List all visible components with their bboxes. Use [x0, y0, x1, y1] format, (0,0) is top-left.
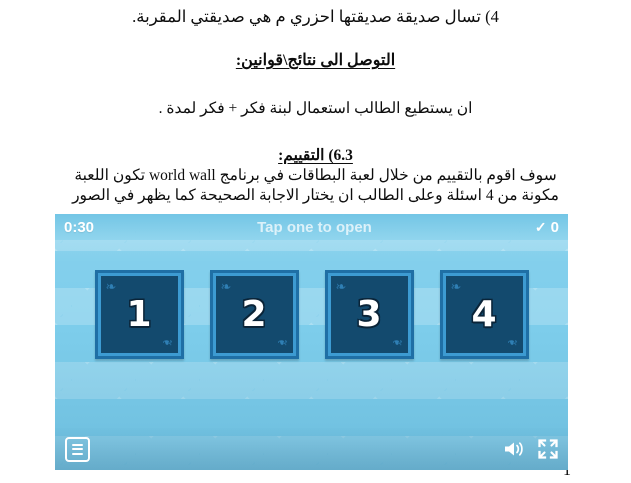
timer-display: 0:30 — [64, 219, 94, 236]
prompt-label: Tap one to open — [94, 219, 535, 236]
game-card-number: 3 — [356, 297, 381, 333]
game-widget[interactable]: 0:30 Tap one to open ✓ 0 ❧ 1 ❧ ❧ 2 ❧ ❧ 3 — [55, 214, 568, 470]
heading-assessment: 6.3) التقييم: — [0, 145, 631, 166]
swirl-ornament-icon: ❧ — [277, 336, 288, 349]
game-card-face: ❧ 2 ❧ — [216, 276, 293, 353]
heading-outcomes: التوصل الى نتائج\قوانين: — [0, 50, 631, 72]
hamburger-line — [72, 448, 83, 450]
swirl-ornament-icon: ❧ — [336, 280, 347, 293]
swirl-ornament-icon: ❧ — [507, 336, 518, 349]
game-card[interactable]: ❧ 3 ❧ — [325, 270, 414, 359]
heading-outcomes-text: التوصل الى نتائج\قوانين: — [236, 52, 395, 69]
swirl-ornament-icon: ❧ — [451, 280, 462, 293]
swirl-ornament-icon: ❧ — [106, 280, 117, 293]
game-card-number: 2 — [241, 297, 266, 333]
hamburger-menu-icon[interactable] — [65, 437, 90, 462]
game-card[interactable]: ❧ 1 ❧ — [95, 270, 184, 359]
game-top-bar: 0:30 Tap one to open ✓ 0 — [55, 214, 568, 240]
score-value: 0 — [551, 219, 559, 236]
score-display: ✓ 0 — [535, 219, 559, 236]
game-card-face: ❧ 3 ❧ — [331, 276, 408, 353]
assessment-paragraph-line-2: مكونة من 4 اسئلة وعلى الطالب ان يختار ال… — [0, 185, 631, 206]
question-line: 4) تسال صديقة صديقتها احزري م هي صديقتي … — [60, 6, 571, 28]
hamburger-line — [72, 453, 83, 455]
game-card-face: ❧ 4 ❧ — [446, 276, 523, 353]
outcomes-paragraph: ان يستطيع الطالب استعمال لبنة فكر + فكر … — [0, 98, 631, 120]
game-card[interactable]: ❧ 4 ❧ — [440, 270, 529, 359]
hamburger-line — [72, 444, 83, 446]
swirl-ornament-icon: ❧ — [392, 336, 403, 349]
game-card-number: 4 — [471, 297, 496, 333]
game-bottom-bar — [55, 428, 568, 470]
volume-icon[interactable] — [503, 440, 525, 458]
assessment-text-after: تكون اللعبة — [74, 167, 145, 184]
check-icon: ✓ — [535, 220, 547, 234]
assessment-paragraph-line-1: سوف اقوم بالتقييم من خلال لعبة البطاقات … — [0, 165, 631, 186]
swirl-ornament-icon: ❧ — [162, 336, 173, 349]
cards-row: ❧ 1 ❧ ❧ 2 ❧ ❧ 3 ❧ ❧ 4 ❧ — [55, 270, 568, 359]
assessment-text-before: سوف اقوم بالتقييم من خلال لعبة البطاقات … — [220, 167, 557, 184]
swirl-ornament-icon: ❧ — [221, 280, 232, 293]
heading-assessment-text: 6.3) التقييم: — [278, 147, 353, 164]
program-name: world wall — [149, 165, 216, 186]
fullscreen-icon[interactable] — [538, 439, 558, 459]
game-card[interactable]: ❧ 2 ❧ — [210, 270, 299, 359]
game-card-number: 1 — [126, 297, 151, 333]
game-card-face: ❧ 1 ❧ — [101, 276, 178, 353]
